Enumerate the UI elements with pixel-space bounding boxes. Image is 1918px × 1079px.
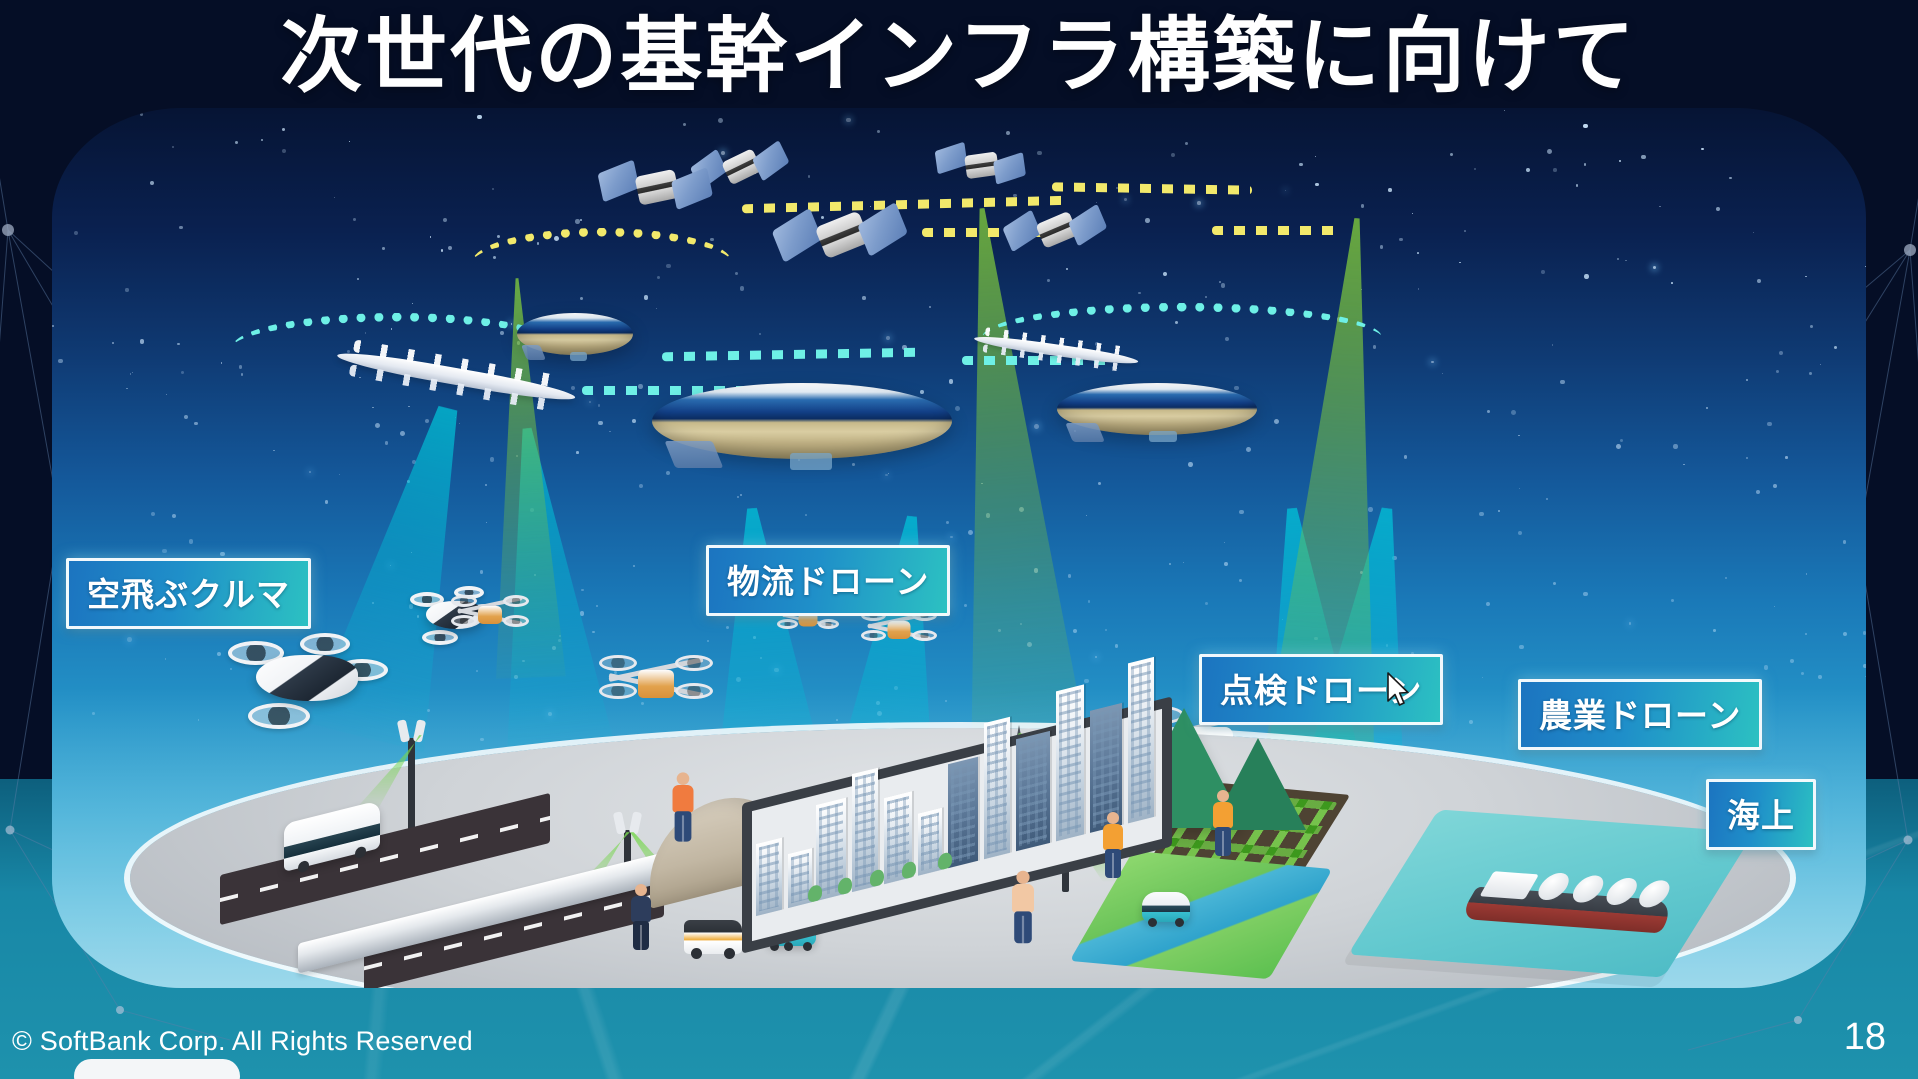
star	[1767, 422, 1772, 427]
star	[1368, 507, 1373, 512]
star	[1774, 606, 1775, 607]
star	[217, 652, 221, 656]
star	[1818, 675, 1822, 679]
flying-car	[232, 633, 382, 723]
star	[162, 549, 167, 554]
slide-title: 次世代の基幹インフラ構築に向けて	[0, 6, 1918, 109]
star	[282, 149, 286, 153]
star	[1221, 283, 1226, 288]
star	[309, 471, 311, 473]
star	[888, 473, 889, 474]
bottom-toolbar-pill[interactable]	[74, 1059, 240, 1079]
star	[852, 463, 855, 466]
star	[1865, 266, 1866, 268]
pedestrian	[1100, 812, 1126, 878]
star	[1716, 207, 1720, 211]
star	[1706, 407, 1708, 409]
star	[968, 530, 973, 535]
pedestrian	[669, 772, 696, 841]
star	[189, 539, 194, 544]
star	[1701, 148, 1703, 150]
star	[1756, 490, 1760, 494]
page-number: 18	[1844, 1016, 1886, 1059]
star	[1843, 632, 1847, 636]
star	[740, 494, 742, 496]
star	[349, 141, 350, 142]
star	[1547, 149, 1552, 154]
star	[239, 365, 243, 369]
star	[165, 658, 166, 659]
satellite	[1005, 199, 1105, 261]
star	[1518, 531, 1523, 536]
star	[1431, 361, 1434, 364]
star	[172, 146, 174, 148]
star	[443, 218, 448, 223]
star	[886, 336, 890, 340]
star	[1553, 582, 1556, 585]
star	[1809, 372, 1812, 375]
star	[710, 238, 714, 242]
orbit-path-yellow	[1052, 182, 1252, 194]
star	[273, 450, 275, 452]
haps-airship	[652, 383, 952, 459]
star	[140, 113, 144, 117]
star	[1541, 270, 1545, 274]
star	[1047, 279, 1050, 282]
star	[1773, 484, 1777, 488]
star	[492, 188, 494, 190]
star	[1205, 602, 1208, 605]
star	[683, 123, 687, 127]
star	[1546, 498, 1548, 500]
haps-airship	[1057, 383, 1257, 435]
star	[1616, 444, 1621, 449]
star	[632, 419, 636, 423]
star	[130, 373, 132, 375]
logistics-drone	[608, 653, 704, 715]
star	[1671, 599, 1674, 602]
orbit-path-cyan	[662, 348, 922, 362]
star	[946, 521, 950, 525]
star	[441, 249, 444, 252]
star	[1806, 573, 1807, 574]
vending-vehicle	[684, 920, 742, 954]
star	[1169, 563, 1171, 565]
star	[1037, 151, 1041, 155]
star	[1145, 218, 1150, 223]
star	[1285, 190, 1286, 191]
star	[1185, 142, 1188, 145]
star	[1617, 258, 1619, 260]
label-logistics-drone[interactable]: 物流ドローン	[706, 545, 950, 616]
star	[74, 231, 78, 235]
star	[126, 388, 128, 390]
satellite	[933, 134, 1027, 197]
star	[1790, 659, 1794, 663]
star	[353, 218, 356, 221]
star	[486, 522, 487, 523]
pedestrian-hoverboard	[1009, 871, 1038, 944]
star	[1865, 676, 1866, 677]
star	[1066, 268, 1068, 270]
star	[575, 219, 580, 224]
star	[1519, 488, 1520, 489]
star	[1399, 238, 1403, 242]
label-text: 農業ドローン	[1539, 689, 1741, 737]
star	[580, 219, 582, 221]
star	[430, 236, 431, 237]
star	[1361, 204, 1365, 208]
star	[1459, 262, 1461, 264]
star	[150, 181, 154, 185]
star	[1863, 631, 1866, 635]
star	[339, 474, 340, 475]
star	[1713, 629, 1716, 632]
star	[737, 496, 738, 497]
star	[220, 552, 224, 556]
star	[862, 296, 866, 300]
star	[950, 536, 953, 539]
star	[726, 626, 729, 629]
star	[1620, 439, 1623, 442]
star	[1619, 160, 1621, 162]
star	[1315, 183, 1319, 187]
star	[1776, 370, 1779, 373]
star	[241, 373, 243, 375]
star	[1188, 462, 1193, 467]
star	[1474, 168, 1476, 170]
star	[1511, 410, 1516, 415]
star	[759, 333, 761, 335]
star	[718, 118, 723, 123]
star	[1486, 602, 1490, 606]
copyright-text: © SoftBank Corp. All Rights Reserved	[12, 1026, 473, 1057]
star	[1653, 266, 1656, 269]
illustration-panel	[52, 108, 1866, 988]
star	[1843, 540, 1847, 544]
star	[1683, 464, 1685, 466]
star	[1753, 232, 1754, 233]
star	[1659, 206, 1661, 208]
star	[885, 474, 888, 477]
star	[1801, 672, 1804, 675]
star	[1785, 456, 1788, 459]
star	[58, 359, 62, 363]
star	[609, 431, 611, 433]
star	[964, 604, 967, 607]
star	[1068, 574, 1072, 578]
star	[477, 115, 482, 120]
star	[184, 415, 188, 419]
star	[735, 272, 738, 275]
star	[1404, 455, 1408, 459]
star	[1746, 457, 1749, 460]
star	[1417, 252, 1419, 254]
star	[1450, 153, 1453, 156]
star	[1219, 281, 1221, 283]
star	[877, 130, 880, 133]
star	[1239, 579, 1243, 583]
star	[1820, 364, 1821, 365]
star	[1299, 163, 1303, 167]
star	[132, 372, 134, 374]
satellite	[598, 151, 711, 222]
star	[480, 570, 484, 574]
star	[1224, 562, 1228, 566]
star	[1138, 292, 1141, 295]
star	[151, 512, 155, 516]
star	[1810, 325, 1813, 328]
slide-root: 次世代の基幹インフラ構築に向けて	[0, 0, 1918, 1079]
star	[598, 404, 601, 407]
logistics-drone	[457, 593, 523, 637]
star	[1518, 435, 1520, 437]
star	[490, 457, 495, 462]
star	[1246, 447, 1251, 452]
star	[221, 362, 223, 364]
star	[261, 139, 263, 141]
star	[172, 514, 176, 518]
star	[1482, 677, 1483, 678]
star	[1729, 177, 1732, 180]
star	[125, 288, 128, 291]
star	[235, 141, 238, 144]
star	[112, 342, 114, 344]
star	[1671, 282, 1673, 284]
star	[1418, 288, 1419, 289]
star	[740, 286, 745, 291]
star	[1629, 622, 1632, 625]
star	[1552, 344, 1554, 346]
star	[707, 640, 710, 643]
label-flying-car[interactable]: 空飛ぶクルマ	[66, 558, 311, 629]
star	[1757, 279, 1761, 283]
star	[576, 451, 579, 454]
star	[1034, 424, 1039, 429]
star	[808, 175, 811, 178]
star	[1380, 245, 1383, 248]
star	[1584, 274, 1588, 278]
star	[177, 343, 180, 346]
star	[1098, 482, 1101, 485]
star	[1315, 156, 1316, 157]
star	[1239, 510, 1244, 515]
star	[929, 306, 931, 308]
star	[1805, 276, 1806, 277]
star	[1834, 346, 1837, 349]
star	[1576, 184, 1578, 186]
label-maritime[interactable]: 海上	[1706, 779, 1816, 850]
star	[1124, 198, 1127, 201]
star	[166, 394, 167, 395]
star	[497, 235, 500, 238]
star	[666, 471, 671, 476]
star	[1088, 600, 1090, 602]
star	[596, 605, 598, 607]
star	[1863, 664, 1866, 668]
star	[1504, 110, 1505, 111]
label-text: 空飛ぶクルマ	[87, 568, 290, 616]
star	[589, 401, 591, 403]
star	[476, 670, 478, 672]
robot-car	[1142, 892, 1190, 922]
star	[1584, 163, 1587, 166]
star	[282, 128, 285, 131]
star	[194, 422, 198, 426]
star	[1163, 272, 1167, 276]
star	[1183, 562, 1184, 563]
star	[1560, 380, 1564, 384]
star	[1086, 515, 1087, 516]
star	[1274, 419, 1279, 424]
star	[1006, 131, 1011, 136]
star	[656, 308, 657, 309]
label-text: 物流ドローン	[727, 555, 929, 603]
star	[1583, 124, 1588, 129]
star	[1526, 168, 1530, 172]
star	[1746, 379, 1748, 381]
star	[1725, 577, 1728, 580]
star	[357, 278, 359, 280]
star	[1388, 188, 1392, 192]
star	[633, 565, 636, 568]
star	[1171, 153, 1175, 157]
star	[382, 247, 385, 250]
star	[1553, 168, 1557, 172]
star	[140, 339, 145, 344]
star	[1779, 351, 1783, 355]
star	[1487, 410, 1490, 413]
star	[639, 484, 644, 489]
label-inspection-drone[interactable]: 点検ドローン	[1199, 654, 1443, 725]
star	[1583, 592, 1587, 596]
orbit-path-yellow	[1212, 226, 1342, 235]
star	[1641, 155, 1646, 160]
pedestrian	[628, 884, 654, 950]
star	[1224, 542, 1225, 543]
star	[448, 246, 453, 251]
star	[1479, 512, 1484, 517]
star	[805, 514, 807, 516]
star	[1442, 373, 1443, 374]
star	[1412, 213, 1413, 214]
star	[846, 118, 851, 123]
star	[1498, 510, 1500, 512]
label-text: 点検ドローン	[1220, 664, 1422, 712]
star	[1464, 230, 1466, 232]
star	[325, 500, 329, 504]
label-text: 海上	[1727, 789, 1795, 837]
star	[334, 197, 335, 198]
star	[1625, 260, 1627, 262]
star	[181, 371, 185, 375]
star	[1764, 665, 1769, 670]
orbit-path-yellow	[472, 228, 732, 298]
star	[955, 406, 960, 411]
haps-airship	[517, 313, 633, 355]
star	[581, 589, 584, 592]
star	[412, 303, 413, 304]
star	[1673, 444, 1677, 448]
star	[127, 637, 132, 642]
star	[598, 421, 603, 426]
star	[592, 631, 594, 633]
satellite	[775, 196, 904, 275]
pedestrian	[1210, 790, 1236, 856]
star	[52, 325, 54, 327]
star	[179, 226, 183, 230]
star	[485, 484, 488, 487]
star	[1805, 633, 1807, 635]
star	[1197, 201, 1201, 205]
label-agriculture-drone[interactable]: 農業ドローン	[1518, 679, 1762, 750]
star	[1205, 296, 1207, 298]
star	[1519, 645, 1524, 650]
